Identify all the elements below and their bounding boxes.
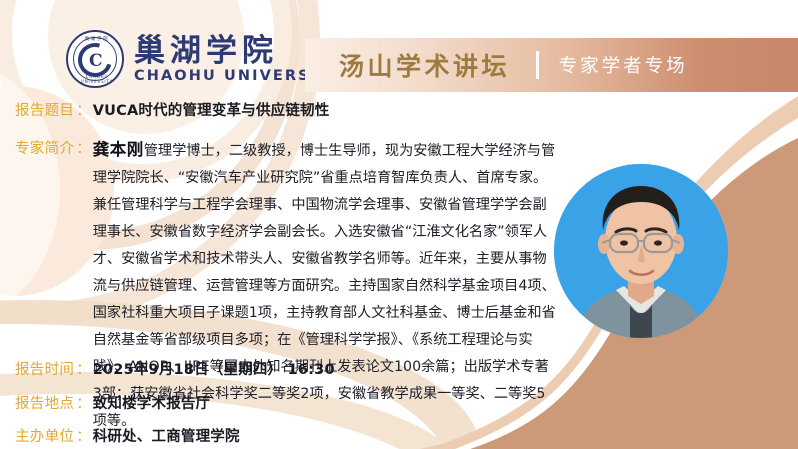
speaker-bio-row: 专家简介 ： 龚本刚管理学博士，二级教授，博士生导师，现为安徽工程大学经济与管理… — [15, 136, 558, 435]
report-title-row: 报告题目 ： VUCA时代的管理变革与供应链韧性 — [15, 99, 329, 120]
report-place-label: 报告地点 — [15, 392, 74, 413]
report-place-row: 报告地点 ： 致知楼学术报告厅 — [15, 392, 210, 413]
speaker-bio-body: 龚本刚管理学博士，二级教授，博士生导师，现为安徽工程大学经济与管理学院院长、“安… — [93, 136, 558, 435]
speaker-bio-text: 管理学博士，二级教授，博士生导师，现为安徽工程大学经济与管理学院院长、“安徽汽车… — [93, 143, 556, 429]
speaker-name: 龚本刚 — [93, 140, 144, 159]
speaker-portrait — [554, 164, 728, 338]
report-time-colon: ： — [74, 358, 93, 379]
speaker-bio-label: 专家简介 — [15, 136, 74, 158]
report-time-row: 报告时间 ： 2025年9月18日（星期四） 16:30 — [15, 358, 335, 379]
report-time-label: 报告时间 — [15, 358, 74, 379]
report-host-value: 科研处、工商管理学院 — [93, 425, 240, 446]
report-host-row: 主办单位 ： 科研处、工商管理学院 — [15, 425, 240, 446]
report-title-colon: ： — [74, 99, 93, 120]
report-time-value: 2025年9月18日（星期四） 16:30 — [93, 358, 335, 379]
report-host-colon: ： — [74, 425, 93, 446]
report-host-label: 主办单位 — [15, 425, 74, 446]
speaker-portrait-illustration — [554, 164, 728, 338]
speaker-bio-colon: ： — [74, 136, 93, 158]
report-place-value: 致知楼学术报告厅 — [93, 392, 211, 413]
report-title-label: 报告题目 — [15, 99, 74, 120]
report-place-colon: ： — [74, 392, 93, 413]
report-title-value: VUCA时代的管理变革与供应链韧性 — [93, 99, 330, 120]
poster-root: 巢湖学院 C CHAOHU UNIVERSITY 巢湖学院 CHAOHU UNI… — [0, 0, 798, 449]
